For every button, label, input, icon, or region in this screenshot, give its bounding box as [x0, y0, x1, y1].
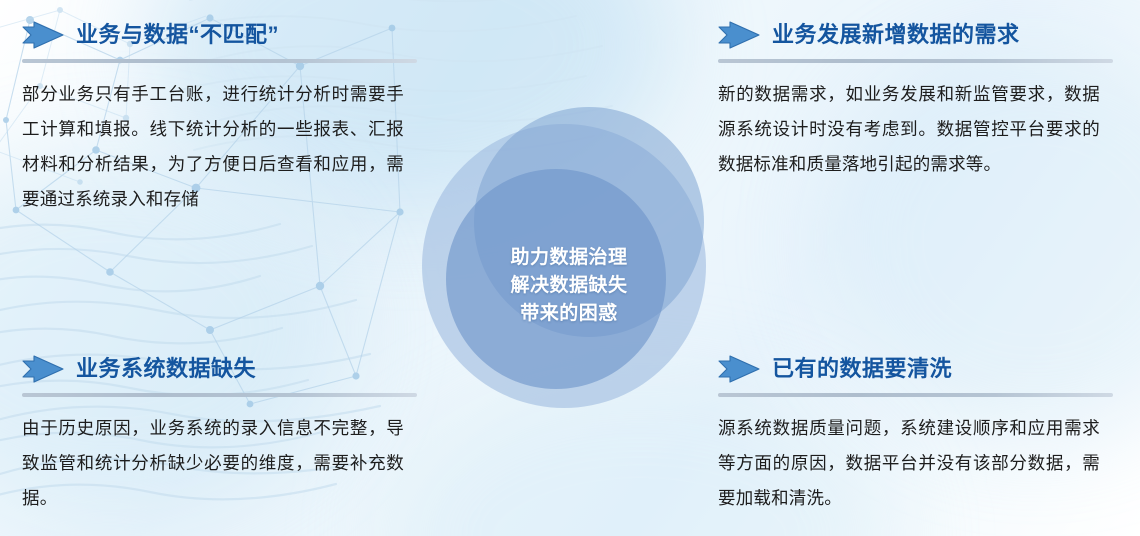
arrow-right-icon	[718, 21, 760, 49]
panel-new-data-demand: 业务发展新增数据的需求 新的数据需求，如业务发展和新监管要求，数据源系统设计时没…	[718, 14, 1118, 182]
panel-body: 由于历史原因，业务系统的录入信息不完整，导致监管和统计分析缺少必要的维度，需要补…	[22, 411, 404, 516]
panel-divider	[718, 59, 1113, 63]
panel-header: 业务系统数据缺失	[22, 348, 422, 390]
panel-title: 业务系统数据缺失	[76, 358, 256, 380]
panel-divider	[22, 59, 417, 63]
panel-title: 业务发展新增数据的需求	[772, 24, 1020, 46]
panel-body: 部分业务只有手工台账，进行统计分析时需要手工计算和填报。线下统计分析的一些报表、…	[22, 77, 404, 217]
arrow-right-icon	[22, 355, 64, 383]
panel-business-data-mismatch: 业务与数据“不匹配” 部分业务只有手工台账，进行统计分析时需要手工计算和填报。线…	[22, 14, 422, 217]
panel-header: 业务发展新增数据的需求	[718, 14, 1118, 56]
panel-header: 业务与数据“不匹配”	[22, 14, 422, 56]
panel-title: 业务与数据“不匹配”	[76, 24, 279, 46]
infographic-slide: 助力数据治理 解决数据缺失 带来的困惑 业务与数据“不匹配” 部分业务只有手工台…	[0, 0, 1140, 536]
panel-divider	[718, 393, 1113, 397]
panel-divider	[22, 393, 417, 397]
arrow-right-icon	[22, 21, 64, 49]
panel-body: 新的数据需求，如业务发展和新监管要求，数据源系统设计时没有考虑到。数据管控平台要…	[718, 77, 1100, 182]
arrow-right-icon	[718, 355, 760, 383]
panel-header: 已有的数据要清洗	[718, 348, 1118, 390]
panel-existing-data-cleansing: 已有的数据要清洗 源系统数据质量问题，系统建设顺序和应用需求等方面的原因，数据平…	[718, 348, 1118, 516]
venn-circles-icon	[404, 104, 734, 409]
panel-body: 源系统数据质量问题，系统建设顺序和应用需求等方面的原因，数据平台并没有该部分数据…	[718, 411, 1100, 516]
panel-title: 已有的数据要清洗	[772, 358, 952, 380]
panel-system-data-missing: 业务系统数据缺失 由于历史原因，业务系统的录入信息不完整，导致监管和统计分析缺少…	[22, 348, 422, 516]
venn-circle-inner	[446, 169, 666, 389]
center-venn-graphic: 助力数据治理 解决数据缺失 带来的困惑	[404, 104, 734, 409]
